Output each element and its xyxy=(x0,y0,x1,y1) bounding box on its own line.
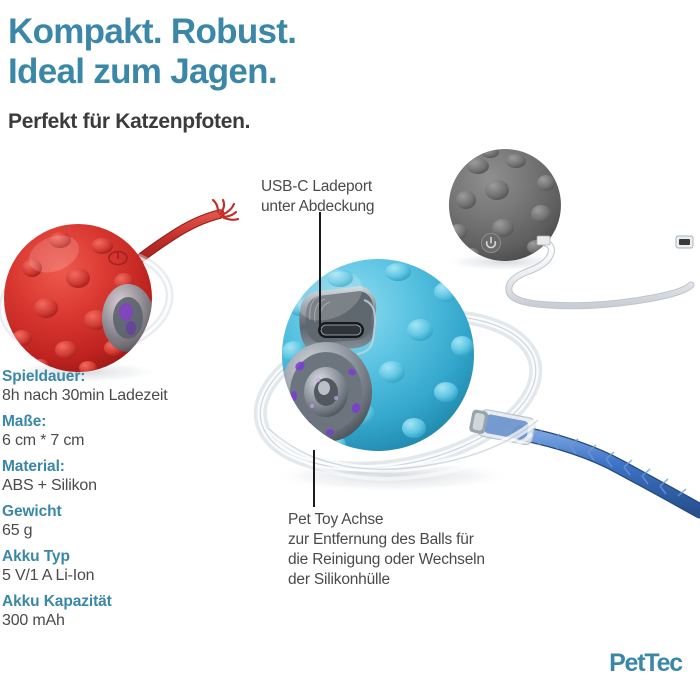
gray-ball-power-button xyxy=(482,234,501,253)
spec-row-material: Material: ABS + Silikon xyxy=(2,458,227,496)
callout-axle-line-2: zur Entfernung des Balls für xyxy=(288,530,485,550)
headline: Kompakt. Robust. Ideal zum Jagen. xyxy=(8,12,608,92)
leader-line-usbc xyxy=(319,212,321,330)
spec-row-gewicht: Gewicht 65 g xyxy=(2,503,227,541)
spec-row-akku-typ: Akku Typ 5 V/1 A Li-Ion xyxy=(2,548,227,586)
spec-label: Maße: xyxy=(2,413,227,431)
callout-usbc: USB-C Ladeport unter Abdeckung xyxy=(261,177,374,217)
spec-value: 6 cm * 7 cm xyxy=(2,431,227,451)
spec-label: Gewicht xyxy=(2,503,227,521)
infographic-canvas: Kompakt. Robust. Ideal zum Jagen. Perfek… xyxy=(0,0,700,700)
spec-label: Material: xyxy=(2,458,227,476)
spec-label: Akku Kapazität xyxy=(2,593,227,611)
subheadline: Perfekt für Katzenpfoten. xyxy=(8,110,250,134)
blue-braided-rope xyxy=(468,407,700,511)
brand-logo: PetTec xyxy=(609,649,682,678)
spec-value: 65 g xyxy=(2,521,227,541)
spec-value: ABS + Silikon xyxy=(2,476,227,496)
callout-usbc-line-1: USB-C Ladeport xyxy=(261,177,374,197)
callout-axle: Pet Toy Achse zur Entfernung des Balls f… xyxy=(288,510,485,590)
spec-label: Akku Typ xyxy=(2,548,227,566)
spec-value: 5 V/1 A Li-Ion xyxy=(2,566,227,586)
spec-label: Spieldauer: xyxy=(2,368,227,386)
spec-value: 300 mAh xyxy=(2,611,227,631)
spec-value: 8h nach 30min Ladezeit xyxy=(2,386,227,406)
specifications-list: Spieldauer: 8h nach 30min Ladezeit Maße:… xyxy=(2,368,227,638)
callout-axle-line-3: die Reinigung oder Wechseln xyxy=(288,550,485,570)
spec-row-masse: Maße: 6 cm * 7 cm xyxy=(2,413,227,451)
spec-row-spieldauer: Spieldauer: 8h nach 30min Ladezeit xyxy=(2,368,227,406)
leader-line-axle xyxy=(313,450,315,507)
gray-ball-group xyxy=(445,146,693,306)
headline-line-2: Ideal zum Jagen. xyxy=(8,52,608,92)
red-ball-axle xyxy=(102,284,154,352)
callout-usbc-line-2: unter Abdeckung xyxy=(261,197,374,217)
headline-line-1: Kompakt. Robust. xyxy=(8,12,296,51)
callout-axle-line-1: Pet Toy Achse xyxy=(288,510,485,530)
blue-ball-axle-hub xyxy=(280,342,372,442)
spec-row-akku-kapazitaet: Akku Kapazität 300 mAh xyxy=(2,593,227,631)
callout-axle-line-4: der Silikonhülle xyxy=(288,570,485,590)
red-ball-group xyxy=(0,200,238,383)
